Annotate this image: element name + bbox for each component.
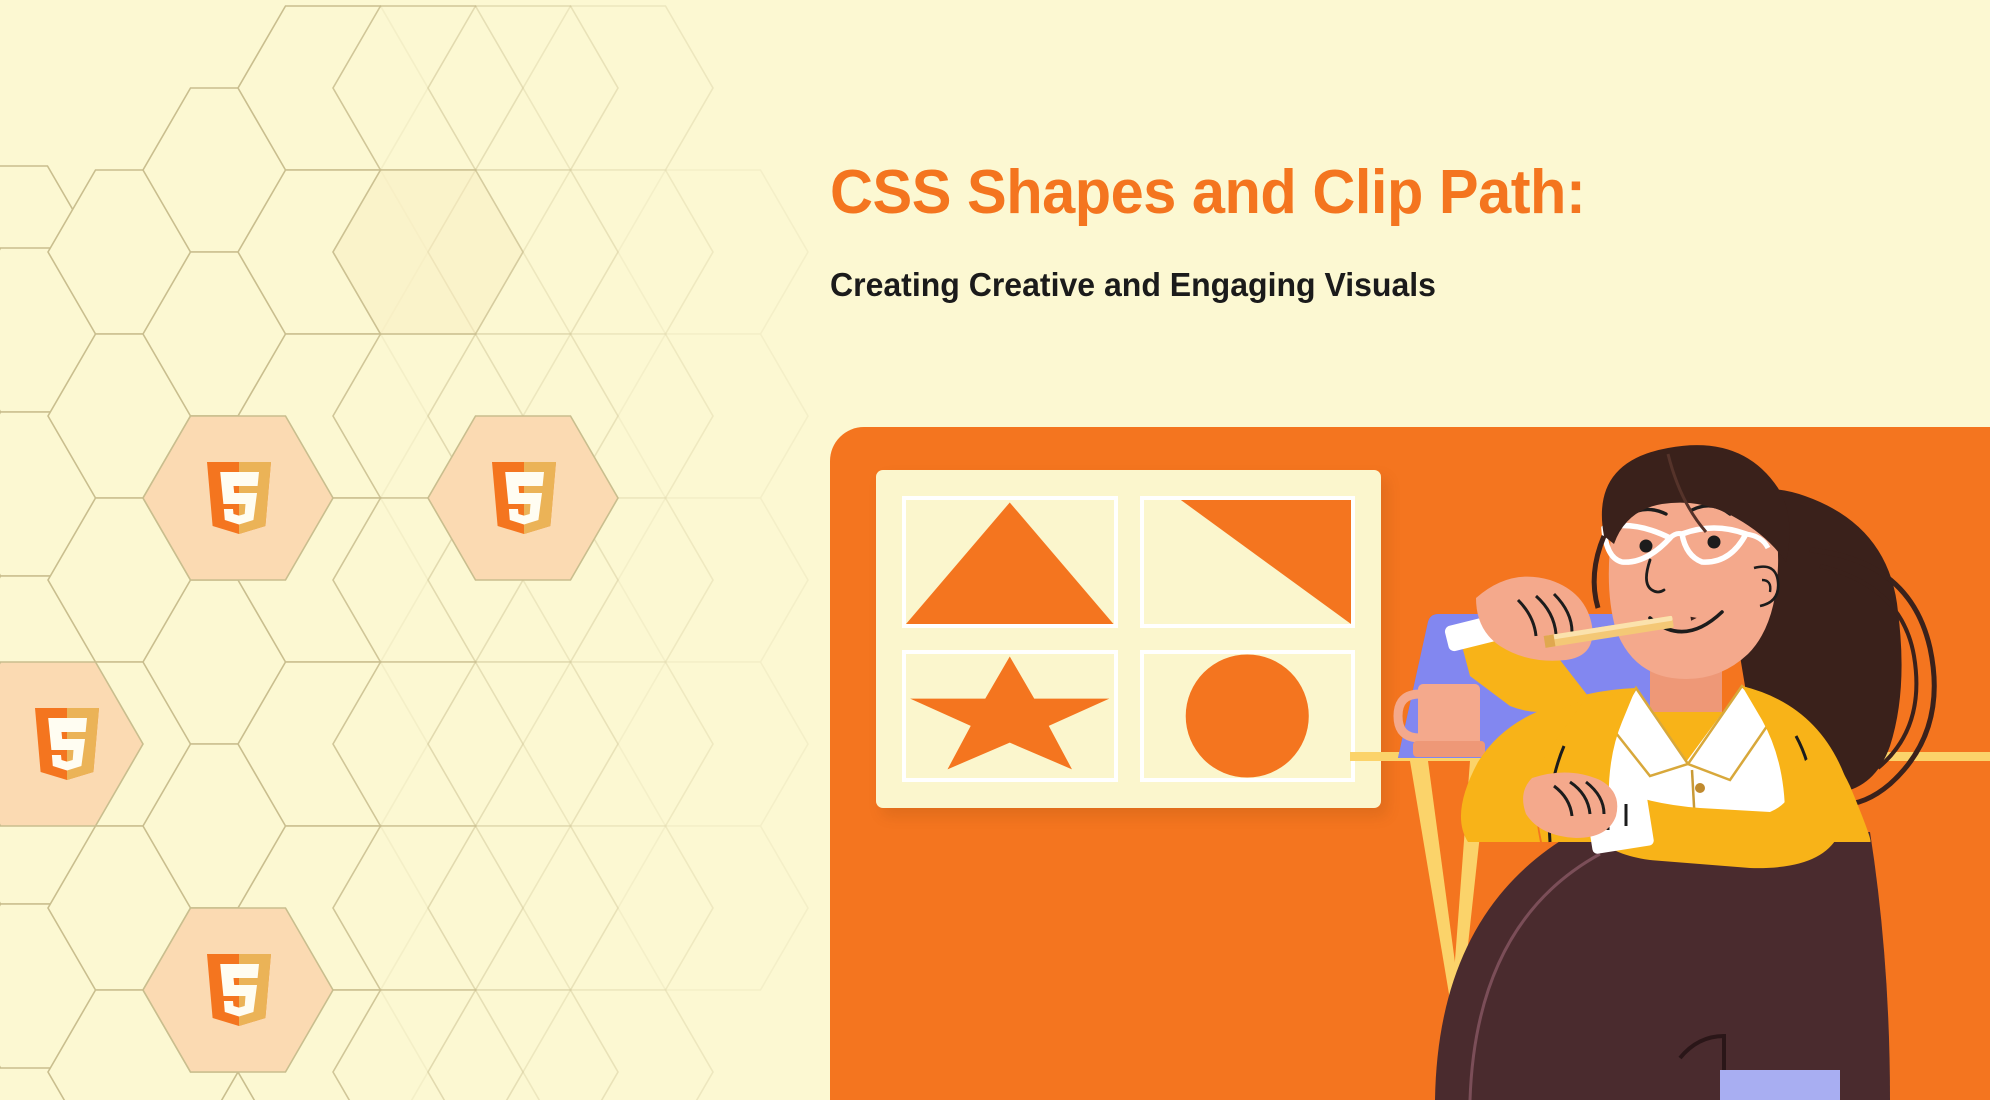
chair-base [1720,1070,1840,1100]
hex-col-i [618,170,808,990]
css3-logo-icon-1 [207,462,271,534]
triangle-shape [906,500,1114,624]
shape-cell-diagonal[interactable] [1140,496,1356,628]
page-subtitle: Creating Creative and Engaging Visuals [830,225,1897,305]
poster-canvas: CSS Shapes and Clip Path: Creating Creat… [0,0,1990,1100]
css3-logo-icon-4 [207,954,271,1026]
hexagon-pattern-background [0,0,860,1100]
skirt [1435,832,1890,1100]
woman-at-laptop-illustration [1350,440,1990,1100]
css3-logo-icon-3 [35,708,99,780]
shape-cell-triangle[interactable] [902,496,1118,628]
page-title: CSS Shapes and Clip Path: [830,160,1886,225]
shape-cell-star[interactable] [902,650,1118,782]
diagonal-shape [1144,500,1352,624]
circle-shape [1144,654,1352,778]
shapes-demo-card [876,470,1381,808]
css3-logo-icon-2 [492,462,556,534]
shape-cell-circle[interactable] [1140,650,1356,782]
star-shape [906,654,1114,778]
shapes-grid [876,470,1381,808]
header-block: CSS Shapes and Clip Path: Creating Creat… [830,160,1930,305]
